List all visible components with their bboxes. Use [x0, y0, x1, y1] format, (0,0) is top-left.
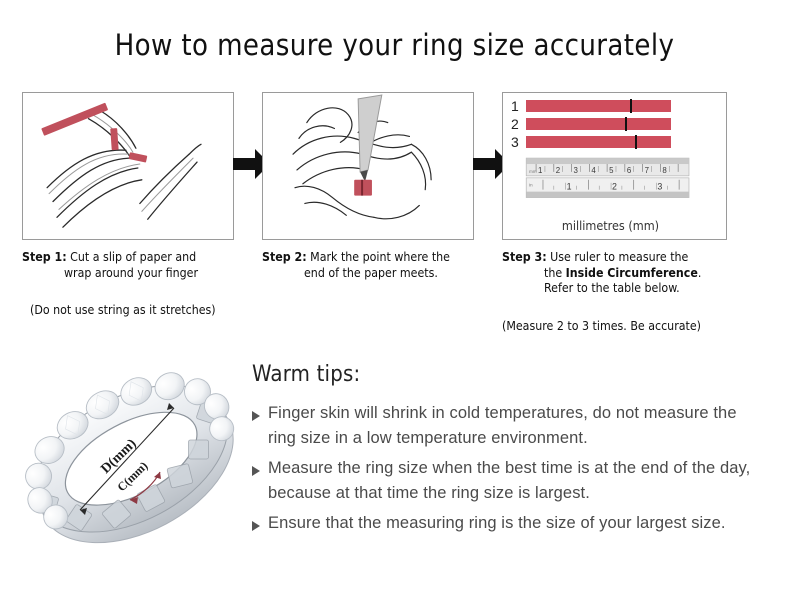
ruler-unit-label: millimetres (mm) [503, 218, 718, 233]
step-1-label: Step 1: [22, 250, 67, 264]
svg-text:2: 2 [612, 182, 617, 192]
step-3-line2-post: . [698, 266, 702, 280]
svg-text:in: in [529, 183, 533, 188]
svg-text:3: 3 [574, 166, 579, 175]
step-2-line2: end of the paper meets. [262, 266, 474, 282]
warm-tips-section: Warm tips: Finger skin will shrink in co… [252, 362, 752, 541]
step-3-column: 1 2 3 [502, 92, 727, 333]
step-3-label: Step 3: [502, 250, 547, 264]
svg-text:2: 2 [556, 166, 560, 175]
triangle-bullet-icon-2 [252, 456, 268, 480]
tip-text-1: Finger skin will shrink in cold temperat… [268, 401, 752, 451]
step-3-line1: Use ruler to measure the [550, 250, 688, 264]
svg-text:5: 5 [609, 166, 614, 175]
step-1-column: Step 1: Cut a slip of paper and wrap aro… [22, 92, 234, 317]
svg-text:mm: mm [529, 169, 537, 174]
step-1-line1: Cut a slip of paper and [70, 250, 196, 264]
page-title: How to measure your ring size accurately [0, 28, 789, 62]
hand-with-paper-strip-illustration [23, 93, 233, 239]
infographic-root: How to measure your ring size accurately [0, 0, 789, 606]
inside-circumference-emphasis: Inside Circumference [566, 266, 698, 280]
step-3-caption: Step 3: Use ruler to measure the the Ins… [502, 250, 727, 297]
triangle-bullet-icon [252, 401, 268, 425]
svg-text:8: 8 [662, 166, 667, 175]
step-1-line2: wrap around your finger [22, 266, 234, 282]
svg-text:7: 7 [645, 166, 649, 175]
tip-item-3: Ensure that the measuring ring is the si… [252, 511, 752, 536]
step-3-line2: the Inside Circumference. [502, 266, 727, 282]
step-2-column: Step 2: Mark the point where the end of … [262, 92, 474, 303]
svg-text:3: 3 [657, 182, 662, 192]
step-3-line3: Refer to the table below. [502, 281, 727, 297]
step-3-line2-pre: the [544, 266, 566, 280]
warm-tips-heading: Warm tips: [252, 362, 752, 387]
triangle-bullet-icon-3 [252, 511, 268, 535]
svg-text:4: 4 [591, 166, 596, 175]
tip-text-2: Measure the ring size when the best time… [268, 456, 752, 506]
tip-item-2: Measure the ring size when the best time… [252, 456, 752, 506]
svg-text:1: 1 [538, 166, 542, 175]
ring-diagram: D(mm) C(mm) [18, 352, 250, 577]
step-3-panel: 1 2 3 [502, 92, 727, 240]
tip-text-3: Ensure that the measuring ring is the si… [268, 511, 726, 536]
step-2-caption: Step 2: Mark the point where the end of … [262, 250, 474, 281]
step-1-panel [22, 92, 234, 240]
svg-text:1: 1 [567, 182, 572, 192]
step-2-line1: Mark the point where the [310, 250, 450, 264]
step-3-note: (Measure 2 to 3 times. Be accurate) [502, 319, 727, 333]
step-1-note: (Do not use string as it stretches) [22, 303, 234, 317]
steps-row: Step 1: Cut a slip of paper and wrap aro… [0, 92, 789, 342]
hand-marking-paper-with-pen-illustration [263, 93, 473, 239]
step-2-label: Step 2: [262, 250, 307, 264]
step-2-panel [262, 92, 474, 240]
step-1-caption: Step 1: Cut a slip of paper and wrap aro… [22, 250, 234, 281]
tip-item-1: Finger skin will shrink in cold temperat… [252, 401, 752, 451]
svg-text:6: 6 [627, 166, 632, 175]
